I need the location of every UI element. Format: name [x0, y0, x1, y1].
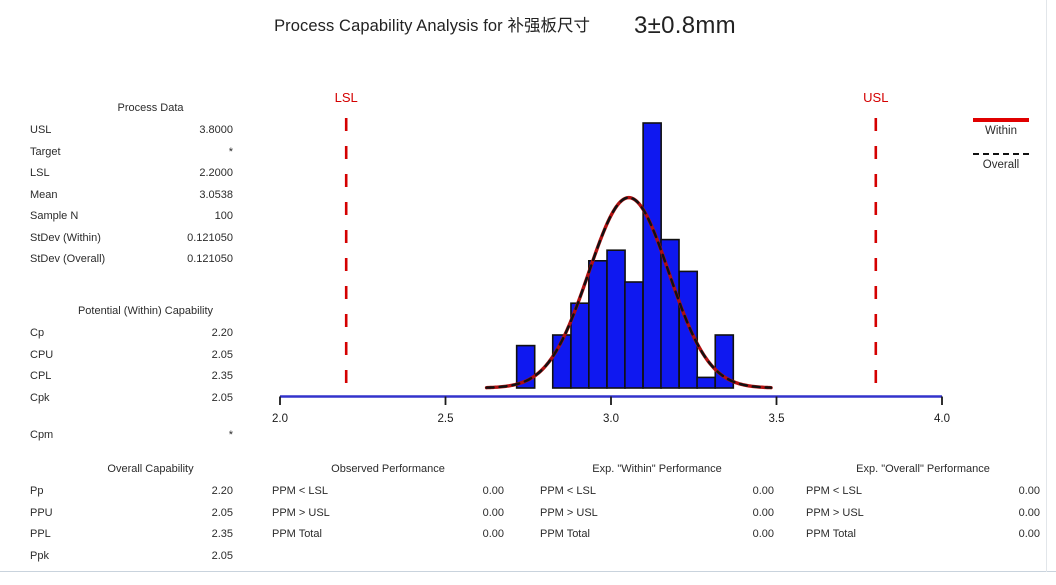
stat-row: PPM Total0.00	[806, 524, 1040, 546]
legend: Within Overall	[958, 118, 1044, 173]
stat-row-value: 0.00	[1019, 481, 1040, 503]
stat-row: PPM > USL0.00	[272, 503, 504, 525]
stat-row-label: PPM > USL	[272, 503, 330, 525]
overall-capability-block: Overall Capability Pp2.20PPU2.05PPL2.35P…	[30, 463, 233, 567]
within-performance-block: Exp. "Within" Performance PPM < LSL0.00P…	[540, 463, 774, 546]
stat-row-label: PPM Total	[540, 524, 590, 546]
stat-row: Mean3.0538	[30, 185, 233, 207]
legend-spacer	[958, 139, 1044, 153]
stat-row: PPL2.35	[30, 524, 233, 546]
stat-row-value: 2.20	[212, 323, 233, 345]
stat-row-label: Cp	[30, 323, 44, 345]
stat-row-value: 2.05	[212, 546, 233, 568]
stat-row-value: 0.00	[483, 503, 504, 525]
stat-row-value: 0.121050	[187, 228, 233, 250]
overall-capability-heading: Overall Capability	[30, 463, 233, 475]
stat-row: Cp2.20	[30, 323, 233, 345]
stat-row-label: Sample N	[30, 206, 78, 228]
stat-row-label: CPU	[30, 345, 53, 367]
histogram-bar	[589, 261, 607, 388]
stat-row-value: 0.00	[1019, 524, 1040, 546]
stat-row: Pp2.20	[30, 481, 233, 503]
stat-row-value: 2.2000	[199, 163, 233, 185]
stat-row-value: 3.0538	[199, 185, 233, 207]
process-data-block: Process Data USL3.8000Target*LSL2.2000Me…	[30, 102, 233, 271]
x-axis-tick-label: 2.0	[272, 413, 288, 425]
stat-row-label: USL	[30, 120, 51, 142]
legend-overall-label: Overall	[958, 158, 1044, 173]
stat-row-value: 0.00	[1019, 503, 1040, 525]
stat-row-value: 2.05	[212, 388, 233, 410]
stat-row-value: 2.35	[212, 366, 233, 388]
stat-row-label: PPM Total	[806, 524, 856, 546]
stat-row-value: *	[229, 425, 233, 447]
stat-row-value: 0.00	[753, 524, 774, 546]
stat-row: Cpk2.05	[30, 388, 233, 410]
stat-row-value: 0.00	[483, 481, 504, 503]
stat-row-label: Cpk	[30, 388, 50, 410]
observed-performance-block: Observed Performance PPM < LSL0.00PPM > …	[272, 463, 504, 546]
stat-row-value: 2.35	[212, 524, 233, 546]
bottom-divider	[0, 571, 1056, 572]
stat-row-label: PPM > USL	[806, 503, 864, 525]
stat-row-value: 0.00	[483, 524, 504, 546]
spec-limit-labels: LSLUSL	[335, 90, 889, 105]
stat-row: Cpm*	[30, 425, 233, 447]
stat-row: PPM < LSL0.00	[540, 481, 774, 503]
stat-row-value: 0.121050	[187, 249, 233, 271]
stat-row: CPU2.05	[30, 345, 233, 367]
stat-row: Sample N100	[30, 206, 233, 228]
histogram-bar	[679, 271, 697, 388]
stat-row: USL3.8000	[30, 120, 233, 142]
stat-row: CPL2.35	[30, 366, 233, 388]
stat-row: StDev (Overall)0.121050	[30, 249, 233, 271]
stat-row: LSL2.2000	[30, 163, 233, 185]
stat-row: PPM < LSL0.00	[806, 481, 1040, 503]
stat-row: PPM Total0.00	[272, 524, 504, 546]
overall-performance-heading: Exp. "Overall" Performance	[806, 463, 1040, 475]
x-axis-tick-label: 3.5	[769, 413, 785, 425]
stat-row-label: PPM < LSL	[806, 481, 862, 503]
stat-row-label: PPM Total	[272, 524, 322, 546]
stat-row-value: 2.20	[212, 481, 233, 503]
x-axis-tick-labels: 2.02.53.03.54.0	[272, 413, 950, 425]
stat-row-label: Mean	[30, 185, 58, 207]
stat-row-label: PPU	[30, 503, 53, 525]
stat-row-value: 2.05	[212, 503, 233, 525]
stat-row-value: 3.8000	[199, 120, 233, 142]
stat-row-label: CPL	[30, 366, 51, 388]
stat-row-label: LSL	[30, 163, 50, 185]
stat-row-label: PPL	[30, 524, 51, 546]
stat-row-label: Target	[30, 142, 61, 164]
stat-row-value: *	[229, 142, 233, 164]
spec-limit-label-lsl: LSL	[335, 90, 358, 105]
stat-row: PPU2.05	[30, 503, 233, 525]
overall-performance-block: Exp. "Overall" Performance PPM < LSL0.00…	[806, 463, 1040, 546]
observed-performance-heading: Observed Performance	[272, 463, 504, 475]
histogram-bar	[625, 282, 643, 388]
stat-row-value: 100	[215, 206, 233, 228]
within-capability-heading: Potential (Within) Capability	[30, 305, 233, 317]
histogram-bar	[643, 123, 661, 388]
legend-within-label: Within	[958, 124, 1044, 139]
process-capability-report: Process Capability Analysis for 补强板尺寸3±0…	[0, 0, 1056, 585]
within-capability-rows: Cp2.20CPU2.05CPL2.35Cpk2.05Cpm*	[30, 323, 233, 447]
x-axis	[280, 397, 942, 406]
stat-row-value: 0.00	[753, 503, 774, 525]
histogram-bar	[697, 377, 715, 388]
stat-row-label: StDev (Overall)	[30, 249, 105, 271]
x-axis-tick-label: 3.0	[603, 413, 619, 425]
process-data-rows: USL3.8000Target*LSL2.2000Mean3.0538Sampl…	[30, 120, 233, 271]
spec-limit-label-usl: USL	[863, 90, 888, 105]
within-capability-block: Potential (Within) Capability Cp2.20CPU2…	[30, 305, 233, 447]
x-axis-tick-label: 2.5	[438, 413, 454, 425]
stat-row: PPM > USL0.00	[806, 503, 1040, 525]
stat-row: PPM < LSL0.00	[272, 481, 504, 503]
stat-row-label: PPM > USL	[540, 503, 598, 525]
stat-row: Ppk2.05	[30, 546, 233, 568]
legend-within-swatch-icon	[973, 118, 1029, 122]
within-performance-rows: PPM < LSL0.00PPM > USL0.00PPM Total0.00	[540, 481, 774, 546]
stat-row: PPM > USL0.00	[540, 503, 774, 525]
stat-row-value: 2.05	[212, 345, 233, 367]
stat-row-label: PPM < LSL	[272, 481, 328, 503]
stat-row-label: Pp	[30, 481, 43, 503]
row-spacer	[30, 409, 233, 425]
stat-row-label: PPM < LSL	[540, 481, 596, 503]
stat-row: StDev (Within)0.121050	[30, 228, 233, 250]
x-axis-tick-label: 4.0	[934, 413, 950, 425]
histogram-bar	[607, 250, 625, 388]
stat-row-label: Ppk	[30, 546, 49, 568]
right-divider	[1046, 0, 1047, 572]
stat-row: PPM Total0.00	[540, 524, 774, 546]
legend-overall-swatch-icon	[973, 153, 1029, 155]
process-data-heading: Process Data	[30, 102, 233, 114]
within-performance-heading: Exp. "Within" Performance	[540, 463, 774, 475]
observed-performance-rows: PPM < LSL0.00PPM > USL0.00PPM Total0.00	[272, 481, 504, 546]
stat-row-value: 0.00	[753, 481, 774, 503]
overall-performance-rows: PPM < LSL0.00PPM > USL0.00PPM Total0.00	[806, 481, 1040, 546]
stat-row: Target*	[30, 142, 233, 164]
stat-row-label: Cpm	[30, 425, 53, 447]
overall-capability-rows: Pp2.20PPU2.05PPL2.35Ppk2.05	[30, 481, 233, 567]
stat-row-label: StDev (Within)	[30, 228, 101, 250]
